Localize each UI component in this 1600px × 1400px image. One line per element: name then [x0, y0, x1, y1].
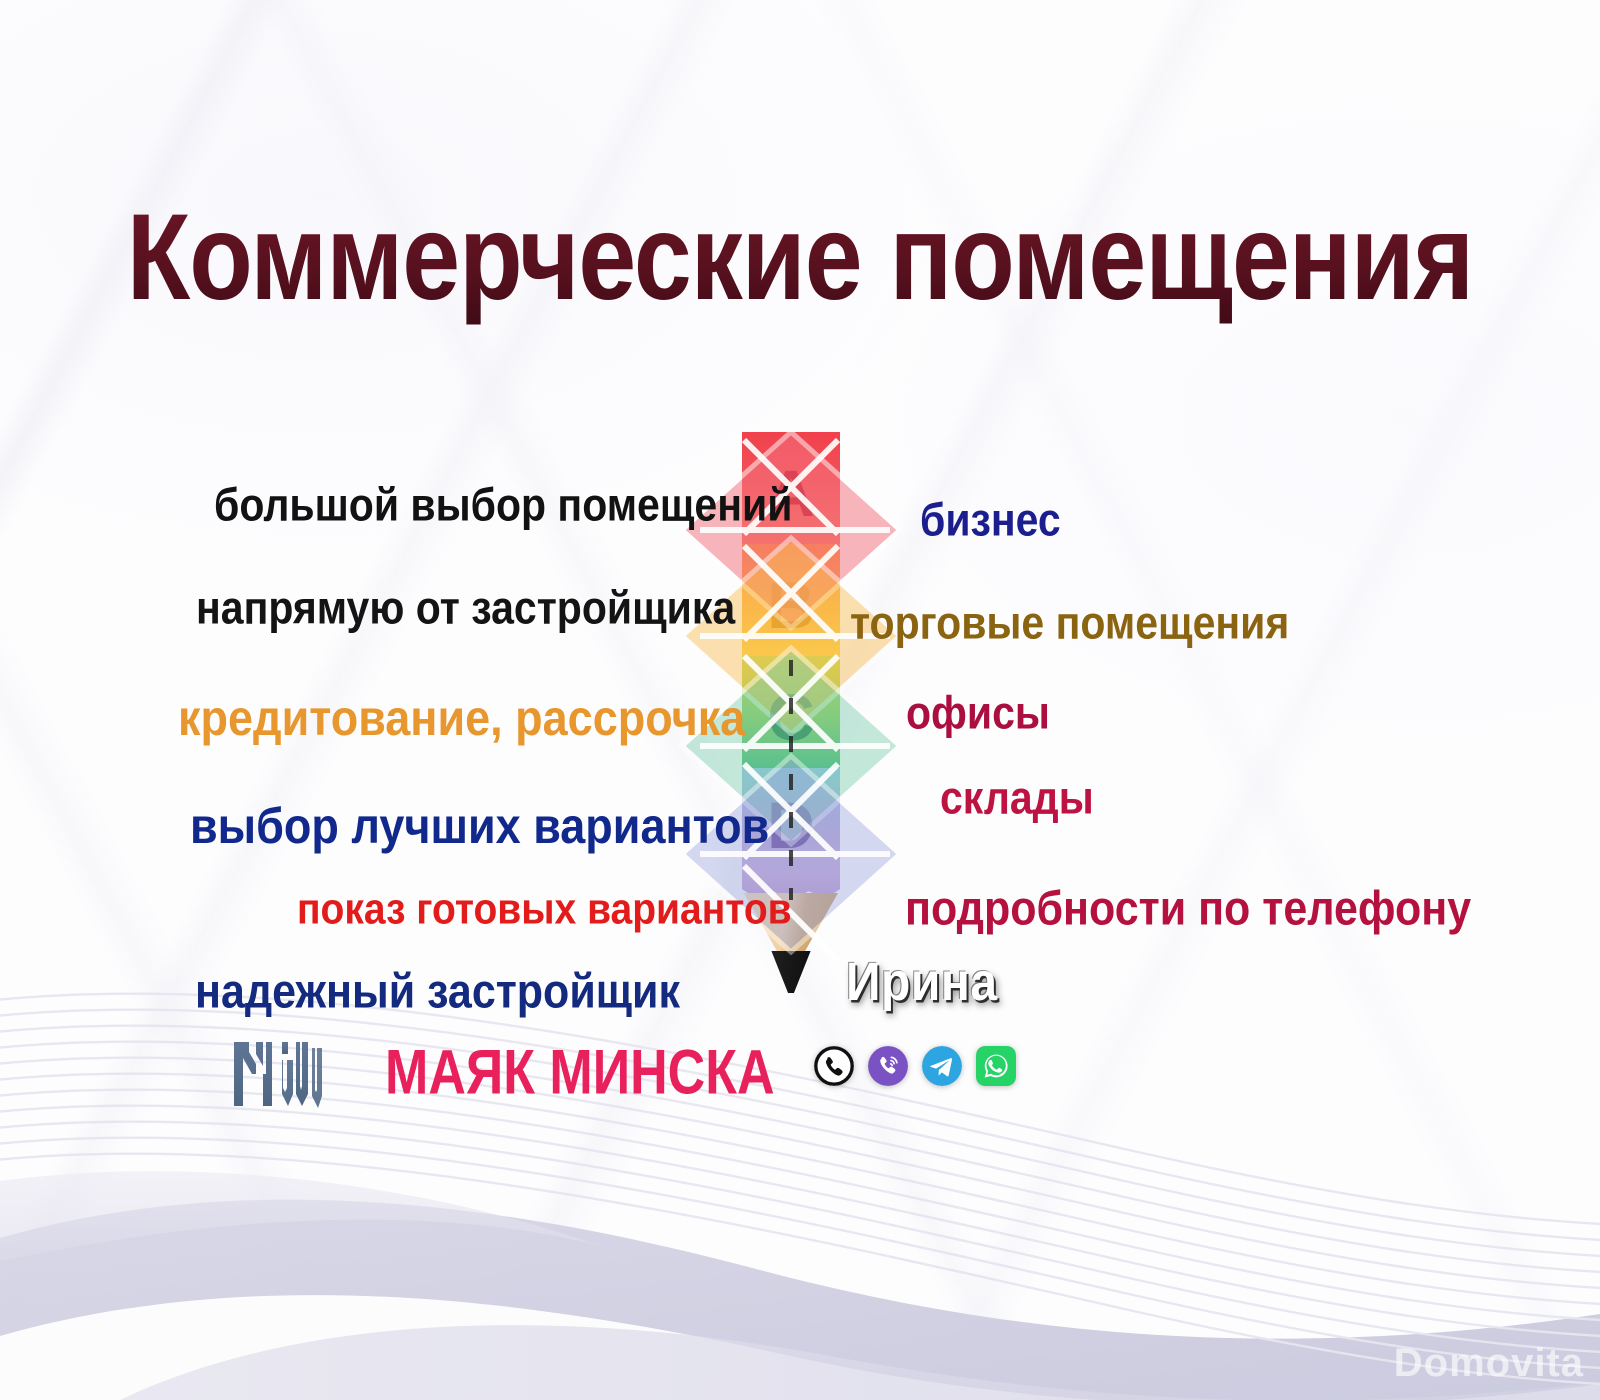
benefit-item-4: выбор лучших вариантов: [190, 797, 769, 855]
benefit-item-2: напрямую от застройщика: [196, 582, 735, 635]
pencil-segment-c: C: [742, 656, 840, 768]
benefit-item-6: надежный застройщик: [195, 965, 680, 1020]
agent-name: Ирина: [846, 952, 998, 1014]
offering-item-5: подробности по телефону: [905, 882, 1471, 937]
viber-icon[interactable]: [868, 1046, 908, 1086]
benefit-item-1: большой выбор помещений: [214, 479, 792, 532]
benefit-item-5: показ готовых вариантов: [297, 885, 792, 934]
whatsapp-icon[interactable]: [976, 1046, 1016, 1086]
offering-item-4: склады: [940, 772, 1094, 825]
offering-item-2: торговые помещения: [850, 597, 1289, 650]
phone-icon[interactable]: [814, 1046, 854, 1086]
watermark-text: Domovita: [1394, 1341, 1584, 1386]
mayak-minska-logo-icon: [230, 1034, 326, 1112]
telegram-icon[interactable]: [922, 1046, 962, 1086]
brand-name: МАЯК МИНСКА: [385, 1036, 775, 1109]
slide-canvas: Domovita Коммерческие помещения A B C D: [0, 0, 1600, 1400]
pencil-segment-b: B: [742, 544, 840, 656]
pencil-letter-b: B: [742, 572, 840, 638]
offering-item-1: бизнес: [920, 494, 1061, 547]
contact-channels[interactable]: [814, 1046, 1016, 1086]
offering-item-3: офисы: [906, 687, 1050, 740]
benefit-item-3: кредитование, рассрочка: [178, 689, 745, 747]
pencil-graphite-point: [742, 951, 840, 993]
page-title: Коммерческие помещения: [0, 188, 1600, 328]
pencil-letter-c: C: [742, 684, 840, 750]
